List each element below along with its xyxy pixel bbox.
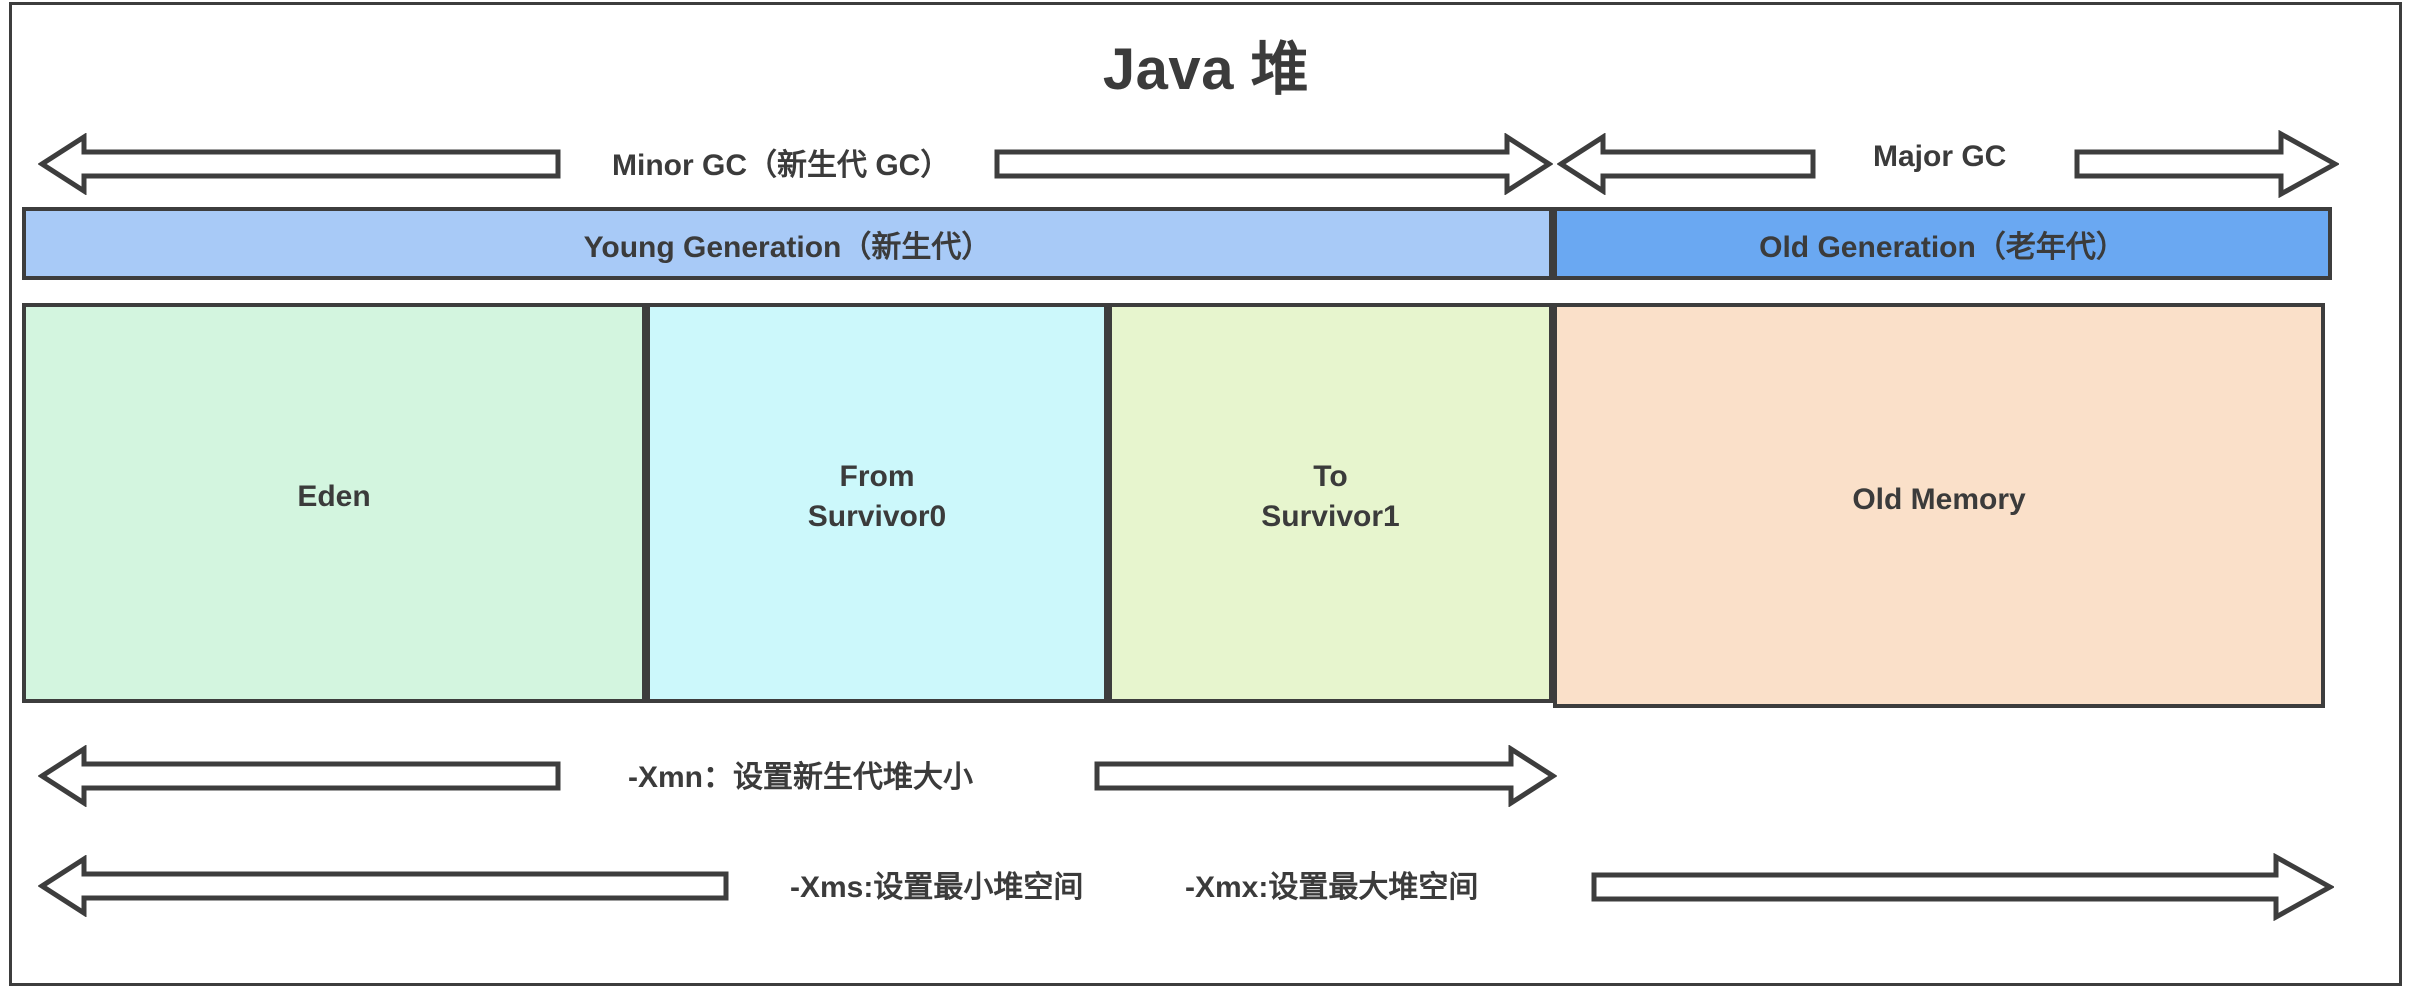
major-gc-label: Major GC: [1873, 140, 2006, 174]
xmx-label: -Xmx:设置最大堆空间: [1185, 862, 1478, 906]
old-generation-bar: Old Generation（老年代）: [1553, 207, 2332, 280]
from-survivor0-label: From Survivor0: [808, 457, 946, 536]
to-survivor1-label: To Survivor1: [1261, 457, 1399, 536]
young-generation-bar: Young Generation（新生代）: [22, 207, 1553, 280]
eden-region-box: Eden: [22, 303, 646, 703]
minor-gc-label: Minor GC（新生代 GC）: [612, 140, 950, 184]
xms-label: -Xms:设置最小堆空间: [790, 862, 1083, 906]
old-generation-label: Old Generation（老年代）: [1759, 222, 2126, 266]
page-title: Java 堆: [0, 22, 2412, 106]
xmx-right-arrow-icon: [1590, 853, 2334, 921]
from-survivor0-region-box: From Survivor0: [646, 303, 1108, 703]
old-memory-region-box: Old Memory: [1553, 303, 2325, 708]
minor-gc-right-arrow-icon: [993, 133, 1553, 195]
xmn-left-arrow-icon: [38, 745, 562, 807]
major-gc-right-arrow-icon: [2073, 130, 2339, 198]
eden-label: Eden: [297, 477, 370, 517]
old-memory-label: Old Memory: [1852, 480, 2025, 520]
xmn-right-arrow-icon: [1093, 745, 1557, 807]
diagram-canvas: Java 堆 Minor GC（新生代 GC） Major GC Young G…: [0, 0, 2412, 988]
xms-left-arrow-icon: [38, 855, 730, 917]
xmn-label: -Xmn：设置新生代堆大小: [628, 752, 973, 796]
to-survivor1-region-box: To Survivor1: [1108, 303, 1553, 703]
major-gc-left-arrow-icon: [1557, 133, 1817, 195]
minor-gc-left-arrow-icon: [38, 133, 562, 195]
young-generation-label: Young Generation（新生代）: [584, 222, 992, 266]
